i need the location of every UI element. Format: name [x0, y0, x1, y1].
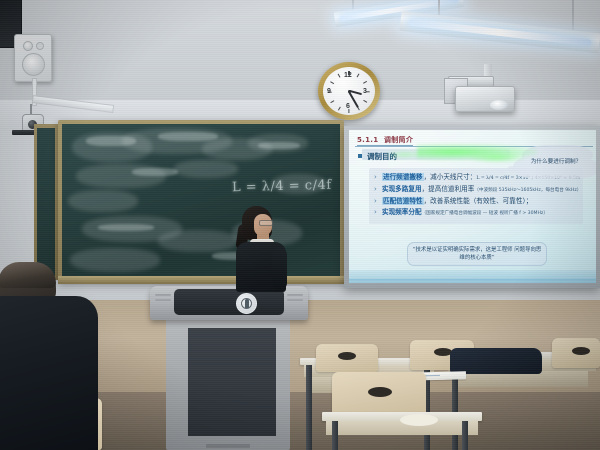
student-hair: [0, 262, 56, 288]
chair-handle-hole: [338, 352, 356, 360]
ceiling-projector: [455, 86, 515, 112]
backpack: [450, 348, 542, 374]
desk-leg: [332, 421, 338, 450]
lectern-cabinet-door[interactable]: [188, 328, 276, 436]
desk-leg: [462, 421, 468, 450]
clock-number-12: 12: [344, 72, 352, 79]
blackboard-formula: L = λ/4 = c/4f: [232, 178, 332, 196]
chair-handle-hole: [368, 387, 392, 397]
bullet-note: （国家规定广播电台调幅波段 — 短波 视听广播 f > 30MHz）: [422, 211, 548, 216]
wall-clock: 12 3 6 9: [318, 62, 380, 120]
lectern[interactable]: [150, 286, 308, 450]
speaker-woofer-icon: [22, 53, 45, 76]
clock-tick: [363, 100, 367, 103]
slide-title: 5.1.1 调制简介: [357, 135, 413, 145]
instructor: [228, 206, 290, 292]
university-crest-icon: [236, 293, 257, 314]
clock-number-6: 6: [346, 103, 350, 110]
blackboard-surface: L = λ/4 = c/4f: [62, 124, 340, 278]
classroom-photo: 12 3 6 9: [0, 0, 600, 450]
clock-tick: [330, 81, 334, 84]
bullet-rest: ，减小天线尺寸：: [424, 173, 477, 181]
list-item: 匹配信道特性，改善系统性能（有效性、可靠性）；: [373, 196, 579, 207]
blackboard: L = λ/4 = c/4f: [58, 120, 344, 282]
lectern-vent: [287, 294, 303, 296]
clock-center-pin: [348, 90, 351, 93]
callout-tail-small: [499, 170, 505, 174]
lectern-vent: [155, 299, 171, 301]
desk-leg: [306, 365, 312, 450]
bullet-key: 实现频率分配: [382, 208, 422, 216]
callout-tail: [507, 166, 517, 172]
speaker-port-icon: [36, 42, 44, 50]
clock-number-9: 9: [327, 88, 331, 95]
student-foreground: [0, 262, 98, 450]
screen-bottom-edge: [349, 279, 596, 283]
wall-speaker: [14, 34, 52, 82]
chair: [316, 344, 378, 374]
slide-quote: “技术是以证实明确实际需求，这是工程师 问题导向思维的核心本质”: [407, 242, 547, 266]
projector-lens-icon: [490, 100, 508, 110]
bullet-rest: ，提高信道利用率: [422, 185, 475, 193]
lectern-front-panel: [174, 289, 284, 315]
clock-tick: [338, 106, 341, 110]
lectern-vent: [287, 299, 303, 301]
speaker-tweeter-icon: [23, 41, 33, 51]
chair: [552, 338, 600, 368]
blackboard-left-panel: [34, 124, 58, 280]
desk-grommet: [400, 414, 438, 426]
instructor-arm: [272, 248, 287, 290]
presentation-slide: 5.1.1 调制简介 调制目的 进行频谱搬移，减小天线尺寸：L = λ/4 = …: [349, 130, 596, 283]
bullet-key: 实现多路复用: [382, 185, 422, 193]
bullet-key: 匹配信道特性: [382, 197, 424, 205]
clock-tick: [338, 73, 341, 77]
laser-pointer-dot: [469, 152, 525, 163]
projection-screen[interactable]: 5.1.1 调制简介 调制目的 进行频谱搬移，减小天线尺寸：L = λ/4 = …: [349, 130, 596, 283]
instructor-glasses: [259, 220, 273, 226]
list-item: 实现多路复用，提高信道利用率（中波频段 535kHz～1605kHz，每台电台 …: [373, 184, 579, 196]
clock-number-3: 3: [363, 88, 367, 95]
bullet-note: （中波频段 535kHz～1605kHz，每台电台 9kHz）: [474, 188, 581, 193]
light-hanger-3: [572, 0, 574, 30]
lectern-foot: [206, 444, 250, 448]
student-jacket: [0, 296, 98, 450]
clock-tick: [330, 100, 334, 103]
lectern-vent: [155, 294, 171, 296]
clock-face: 12 3 6 9: [323, 67, 375, 115]
list-item: 实现频率分配（国家规定广播电台调幅波段 — 短波 视听广播 f > 30MHz）: [373, 207, 579, 219]
bullet-key: 进行频谱搬移: [382, 173, 424, 181]
clock-tick: [357, 73, 360, 77]
projection-screen-frame: 5.1.1 调制简介 调制目的 进行频谱搬移，减小天线尺寸：L = λ/4 = …: [344, 126, 600, 288]
bullet-rest: ，改善系统性能（有效性、可靠性）；: [424, 197, 533, 205]
chair-handle-hole: [572, 347, 590, 355]
chalk-rail: [58, 276, 344, 284]
lectern-body: [166, 318, 290, 450]
clock-tick: [363, 81, 367, 84]
